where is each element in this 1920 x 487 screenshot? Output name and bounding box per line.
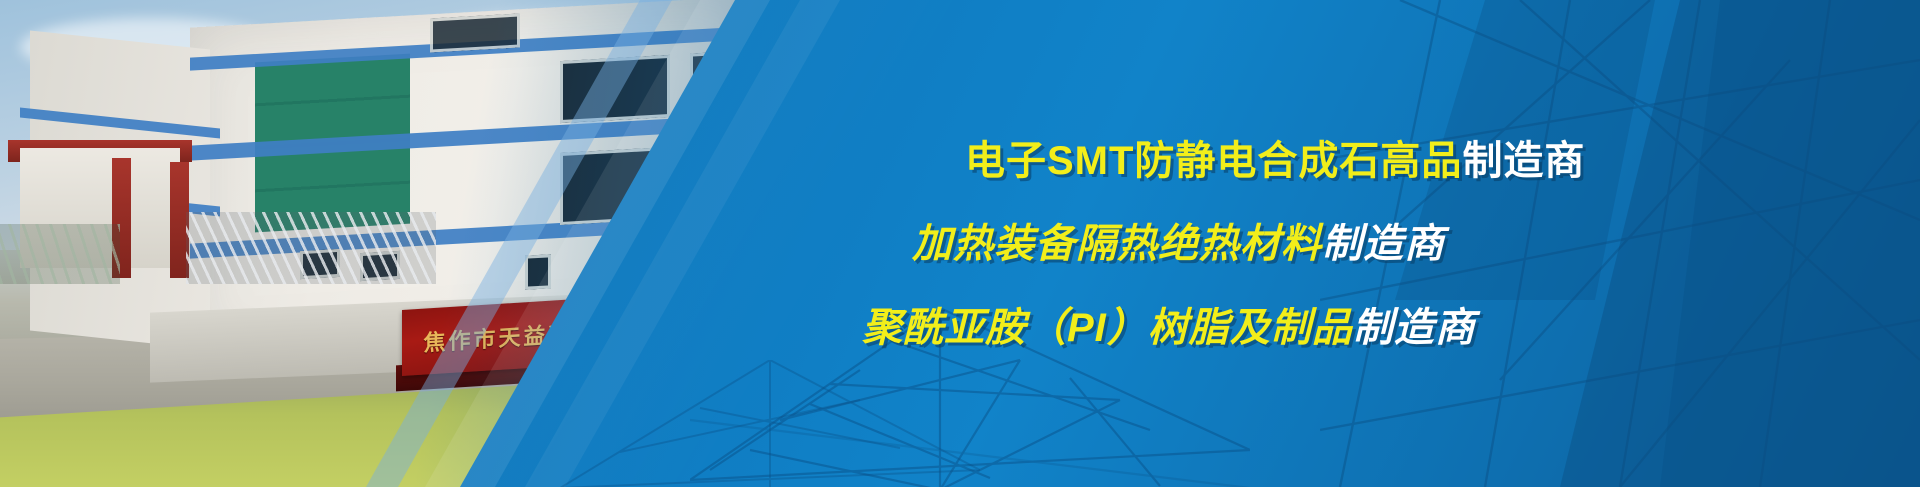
- headline-line-2-tail: 制造商: [1322, 222, 1445, 266]
- headline-line-3-highlight: 聚酰亚胺（PI）树脂及制品: [862, 306, 1353, 350]
- headline-group: 电子SMT防静电合成石高品制造商 加热装备隔热绝热材料制造商 聚酰亚胺（PI）树…: [0, 0, 1920, 487]
- headline-line-1-tail: 制造商: [1462, 139, 1585, 183]
- headline-line-2: 加热装备隔热绝热材料制造商: [912, 211, 1445, 269]
- headline-line-2-highlight: 加热装备隔热绝热材料: [912, 222, 1322, 266]
- headline-line-1: 电子SMT防静电合成石高品制造商: [965, 128, 1585, 186]
- headline-line-3: 聚酰亚胺（PI）树脂及制品制造商: [862, 295, 1476, 353]
- hero-banner: 焦作市天益科技有限公司: [0, 0, 1920, 487]
- headline-line-1-highlight: 电子SMT防静电合成石高品: [965, 139, 1462, 183]
- headline-line-3-tail: 制造商: [1353, 306, 1476, 350]
